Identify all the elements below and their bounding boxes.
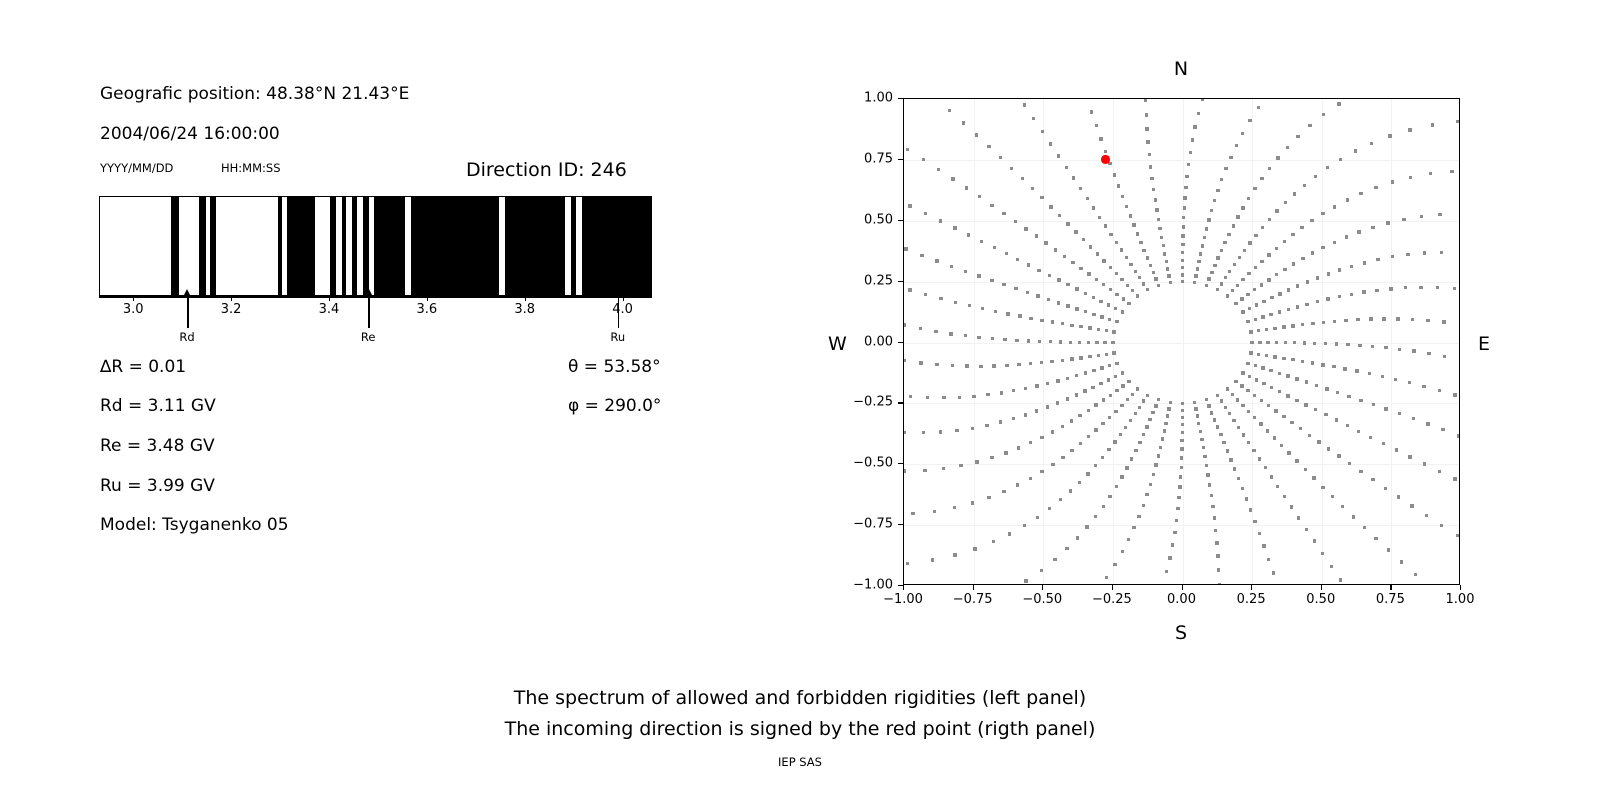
spectrum-tick xyxy=(427,296,428,301)
x-axis-tick-label: 0.50 xyxy=(1306,592,1335,607)
x-axis-tick-label: −0.75 xyxy=(953,592,993,607)
compass-label-north: N xyxy=(1174,58,1188,80)
spectrum-tick xyxy=(329,296,330,301)
forbidden-band xyxy=(505,197,565,295)
x-axis-tick-label: −0.50 xyxy=(1022,592,1062,607)
param-delta-r: ∆R = 0.01 xyxy=(100,357,186,377)
x-axis-tick xyxy=(973,585,974,590)
spectrum-tick xyxy=(231,296,232,301)
y-axis-tick xyxy=(898,98,903,99)
y-axis-tick xyxy=(898,463,903,464)
rigidity-spectrum-chart xyxy=(99,196,652,296)
spectrum-tick-label: 3.2 xyxy=(221,302,242,317)
x-axis-tick xyxy=(1112,585,1113,590)
forbidden-band xyxy=(411,197,500,295)
forbidden-band xyxy=(199,197,206,295)
x-axis-tick-label: 0.00 xyxy=(1167,592,1196,607)
forbidden-band xyxy=(374,197,405,295)
arrow-up-icon xyxy=(614,289,622,297)
arrow-shaft xyxy=(368,296,370,328)
compass-label-east: E xyxy=(1478,333,1490,355)
cutoff-marker-label: Rd xyxy=(179,330,194,344)
arrow-shaft xyxy=(187,296,189,328)
footer-credit: IEP SAS xyxy=(0,755,1600,769)
y-axis-tick-label: −1.00 xyxy=(841,578,893,593)
x-axis-tick xyxy=(1251,585,1252,590)
x-axis-tick xyxy=(1321,585,1322,590)
y-axis-tick xyxy=(898,159,903,160)
param-theta: θ = 53.58° xyxy=(568,357,661,377)
spectrum-tick-label: 3.6 xyxy=(417,302,438,317)
x-axis-tick-label: 1.00 xyxy=(1446,592,1475,607)
incoming-direction-marker xyxy=(1101,155,1109,163)
y-axis-tick xyxy=(898,342,903,343)
caption-line-2: The incoming direction is signed by the … xyxy=(0,718,1600,740)
time-format-hint: HH:MM:SS xyxy=(221,161,281,175)
forbidden-band xyxy=(330,197,337,295)
x-axis-tick-label: 0.75 xyxy=(1376,592,1405,607)
x-axis-tick-label: 0.25 xyxy=(1237,592,1266,607)
forbidden-band xyxy=(363,197,368,295)
y-axis-tick-label: 1.00 xyxy=(841,91,893,106)
date-format-hint: YYYY/MM/DD xyxy=(100,161,173,175)
forbidden-band xyxy=(287,197,315,295)
forbidden-band xyxy=(571,197,576,295)
arrow-up-icon xyxy=(365,289,373,297)
caption-line-1: The spectrum of allowed and forbidden ri… xyxy=(0,687,1600,709)
compass-label-south: S xyxy=(1175,622,1187,644)
arrow-shaft xyxy=(618,296,620,328)
spectrum-tick-label: 3.8 xyxy=(514,302,535,317)
spectrum-tick xyxy=(525,296,526,301)
spectrum-tick xyxy=(623,296,624,301)
y-axis-tick-label: −0.75 xyxy=(841,517,893,532)
y-axis-tick-label: 0.00 xyxy=(841,334,893,349)
y-axis-tick xyxy=(898,524,903,525)
spectrum-tick xyxy=(133,296,134,301)
forbidden-band xyxy=(352,197,358,295)
x-axis-tick xyxy=(1042,585,1043,590)
param-rd: Rd = 3.11 GV xyxy=(100,396,216,416)
x-axis-tick-label: −0.25 xyxy=(1092,592,1132,607)
forbidden-band xyxy=(582,197,652,295)
y-axis-tick xyxy=(898,402,903,403)
spectrum-tick-label: 4.0 xyxy=(612,302,633,317)
forbidden-band xyxy=(278,197,282,295)
y-axis-tick-label: −0.25 xyxy=(841,395,893,410)
x-axis-tick xyxy=(903,585,904,590)
direction-map-axes: −1.00−0.75−0.50−0.250.000.250.500.751.00… xyxy=(903,98,1460,585)
forbidden-band xyxy=(210,197,217,295)
y-axis-tick-label: 0.75 xyxy=(841,151,893,166)
param-re: Re = 3.48 GV xyxy=(100,436,215,456)
forbidden-band xyxy=(171,197,178,295)
x-axis-tick xyxy=(1460,585,1461,590)
spectrum-axis-annotations: 3.03.23.43.63.84.0RdReRu xyxy=(99,296,652,356)
x-axis-tick xyxy=(1390,585,1391,590)
cutoff-marker-label: Ru xyxy=(610,330,625,344)
direction-id-text: Direction ID: 246 xyxy=(466,159,627,181)
x-axis-tick xyxy=(1182,585,1183,590)
geographic-position-text: Geografic position: 48.38°N 21.43°E xyxy=(100,84,409,104)
datetime-text: 2004/06/24 16:00:00 xyxy=(100,124,280,144)
forbidden-band xyxy=(342,197,346,295)
param-model: Model: Tsyganenko 05 xyxy=(100,515,289,535)
param-phi: φ = 290.0° xyxy=(568,396,661,416)
spectrum-tick-label: 3.0 xyxy=(123,302,144,317)
y-axis-tick-label: 0.25 xyxy=(841,273,893,288)
spectrum-bar xyxy=(99,196,652,296)
x-axis-tick-label: −1.00 xyxy=(883,592,923,607)
y-axis-tick-label: 0.50 xyxy=(841,212,893,227)
spectrum-tick-label: 3.4 xyxy=(319,302,340,317)
y-axis-tick xyxy=(898,220,903,221)
cutoff-marker-label: Re xyxy=(361,330,376,344)
arrow-up-icon xyxy=(183,289,191,297)
y-axis-tick-label: −0.50 xyxy=(841,456,893,471)
y-axis-tick xyxy=(898,281,903,282)
param-ru: Ru = 3.99 GV xyxy=(100,476,215,496)
